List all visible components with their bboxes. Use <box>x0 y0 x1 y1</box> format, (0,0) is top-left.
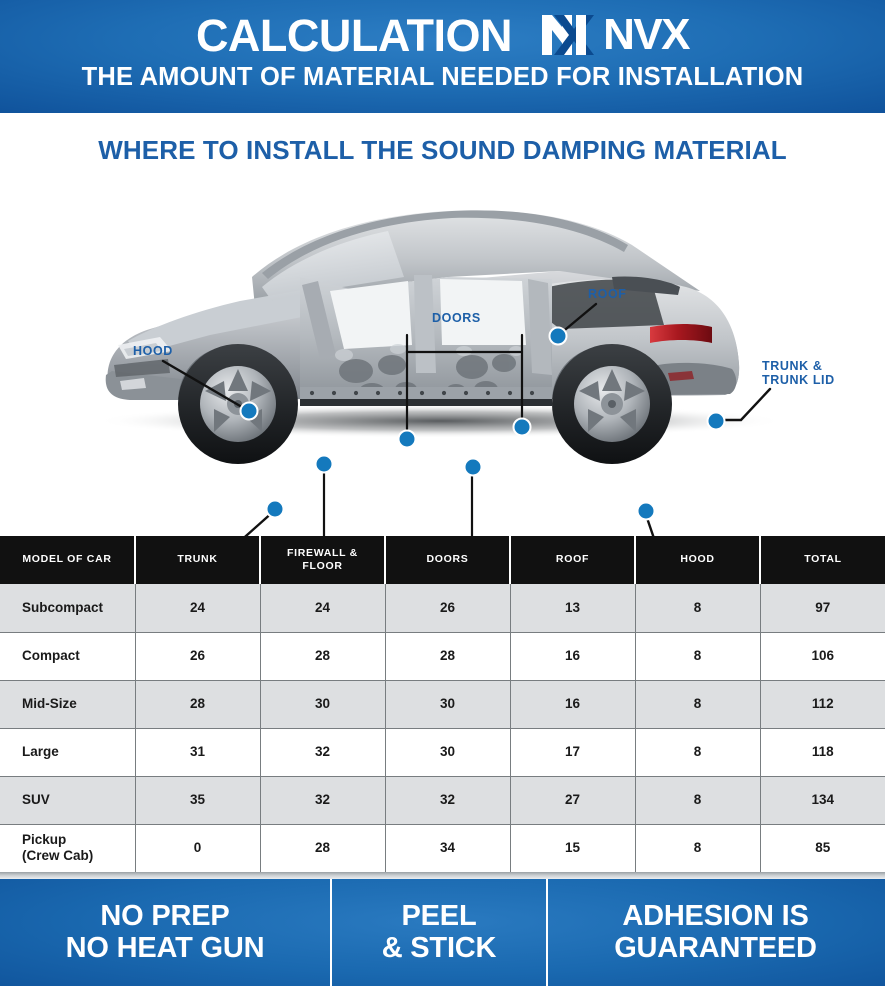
cell-model: Large <box>0 728 135 776</box>
callout-roof-label: ROOF <box>588 287 627 301</box>
table-row: Mid-Size 28 30 30 16 8 112 <box>0 680 885 728</box>
table-row: Subcompact 24 24 26 13 8 97 <box>0 584 885 632</box>
cell-total: 118 <box>760 728 885 776</box>
cell-trunk: 26 <box>135 632 260 680</box>
leader-wheel-wells-left <box>182 511 274 536</box>
cell-model: Compact <box>0 632 135 680</box>
cell-model-line2: (Crew Cab) <box>22 848 135 864</box>
cell-model-line1: Pickup <box>22 832 135 848</box>
front-window-opening <box>330 281 412 349</box>
callout-hood-label: HOOD <box>133 344 173 358</box>
cell-hood: 8 <box>635 680 760 728</box>
table-row: SUV 35 32 32 27 8 134 <box>0 776 885 824</box>
cell-firewall: 24 <box>260 584 385 632</box>
cell-hood: 8 <box>635 824 760 872</box>
callout-trunk-line1: TRUNK & <box>762 359 872 373</box>
cell-doors: 26 <box>385 584 510 632</box>
cell-model: Subcompact <box>0 584 135 632</box>
callout-doors-label: DOORS <box>432 311 481 325</box>
cell-model: Mid-Size <box>0 680 135 728</box>
diagram-section: WHERE TO INSTALL THE SOUND DAMPING MATER… <box>0 113 885 536</box>
cell-total: 85 <box>760 824 885 872</box>
cell-trunk: 24 <box>135 584 260 632</box>
col-header-total: TOTAL <box>760 536 885 584</box>
marker-rear-wheel-well <box>638 503 655 520</box>
cell-roof: 16 <box>510 680 635 728</box>
table-body: Subcompact 24 24 26 13 8 97 Compact 26 2… <box>0 584 885 872</box>
cell-roof: 27 <box>510 776 635 824</box>
cell-total: 106 <box>760 632 885 680</box>
cell-model: Pickup (Crew Cab) <box>0 824 135 872</box>
cell-hood: 8 <box>635 776 760 824</box>
marker-firewall <box>316 456 333 473</box>
marker-trunk <box>708 413 725 430</box>
car-diagram: HOOD DOORS ROOF TRUNK & TRUNK LID WHEEL … <box>0 159 885 536</box>
cell-trunk: 35 <box>135 776 260 824</box>
table-header-row: MODEL OF CAR TRUNK FIREWALL & FLOOR DOOR… <box>0 536 885 584</box>
banner-peel-stick: PEEL & STICK <box>330 879 548 986</box>
header-subtitle: THE AMOUNT OF MATERIAL NEEDED FOR INSTAL… <box>0 58 885 91</box>
callout-trunk-label: TRUNK & TRUNK LID <box>762 359 872 388</box>
leader-firewall-bracket <box>324 467 472 536</box>
marker-roof <box>550 328 567 345</box>
c-pillar <box>528 279 552 375</box>
header-banner: CALCULATION NVX THE AMOUNT OF MATERIAL N… <box>0 0 885 113</box>
cell-roof: 16 <box>510 632 635 680</box>
cell-roof: 13 <box>510 584 635 632</box>
bottom-banner: NO PREP NO HEAT GUN PEEL & STICK ADHESIO… <box>0 879 885 986</box>
banner-adhesion-guaranteed: ADHESION IS GUARANTEED <box>548 879 883 986</box>
cell-doors: 30 <box>385 728 510 776</box>
col-header-firewall-line2: FLOOR <box>265 560 380 573</box>
col-header-trunk: TRUNK <box>135 536 260 584</box>
cell-roof: 15 <box>510 824 635 872</box>
cell-hood: 8 <box>635 632 760 680</box>
cell-hood: 8 <box>635 728 760 776</box>
cell-firewall: 32 <box>260 728 385 776</box>
cell-doors: 28 <box>385 632 510 680</box>
cell-total: 134 <box>760 776 885 824</box>
col-header-firewall-floor: FIREWALL & FLOOR <box>260 536 385 584</box>
brand-logo: NVX <box>540 13 689 57</box>
cell-firewall: 30 <box>260 680 385 728</box>
col-header-firewall-line1: FIREWALL & <box>265 547 380 560</box>
brand-logo-text: NVX <box>603 13 689 57</box>
cell-roof: 17 <box>510 728 635 776</box>
callout-trunk-line2: TRUNK LID <box>762 373 872 387</box>
under-sill-shadow <box>300 399 552 406</box>
rocker-sill <box>300 387 552 399</box>
cell-firewall: 28 <box>260 632 385 680</box>
page-title: CALCULATION <box>196 13 512 58</box>
cell-firewall: 32 <box>260 776 385 824</box>
col-header-doors: DOORS <box>385 536 510 584</box>
table-header: MODEL OF CAR TRUNK FIREWALL & FLOOR DOOR… <box>0 536 885 584</box>
cell-trunk: 0 <box>135 824 260 872</box>
header-top-row: CALCULATION NVX <box>0 0 885 58</box>
col-header-hood: HOOD <box>635 536 760 584</box>
x-mark-icon <box>540 13 602 57</box>
marker-door-rear <box>514 419 531 436</box>
cell-total: 112 <box>760 680 885 728</box>
table-row: Large 31 32 30 17 8 118 <box>0 728 885 776</box>
calculation-table: MODEL OF CAR TRUNK FIREWALL & FLOOR DOOR… <box>0 536 885 872</box>
col-header-model: MODEL OF CAR <box>0 536 135 584</box>
cell-trunk: 28 <box>135 680 260 728</box>
marker-door-front <box>399 431 416 448</box>
cell-trunk: 31 <box>135 728 260 776</box>
cell-doors: 32 <box>385 776 510 824</box>
cell-model: SUV <box>0 776 135 824</box>
table-row: Pickup (Crew Cab) 0 28 34 15 8 85 <box>0 824 885 872</box>
infographic-page: CALCULATION NVX THE AMOUNT OF MATERIAL N… <box>0 0 885 1000</box>
marker-floor <box>465 459 482 476</box>
cell-hood: 8 <box>635 584 760 632</box>
calculation-table-wrap: MODEL OF CAR TRUNK FIREWALL & FLOOR DOOR… <box>0 536 885 879</box>
marker-front-wheel-well <box>267 501 284 518</box>
cell-doors: 30 <box>385 680 510 728</box>
col-header-roof: ROOF <box>510 536 635 584</box>
marker-hood <box>241 403 258 420</box>
cell-doors: 34 <box>385 824 510 872</box>
banner-no-prep: NO PREP NO HEAT GUN <box>0 879 330 986</box>
cell-firewall: 28 <box>260 824 385 872</box>
cell-total: 97 <box>760 584 885 632</box>
rear-wheel <box>552 344 672 464</box>
table-row: Compact 26 28 28 16 8 106 <box>0 632 885 680</box>
table-bottom-divider <box>0 872 885 879</box>
